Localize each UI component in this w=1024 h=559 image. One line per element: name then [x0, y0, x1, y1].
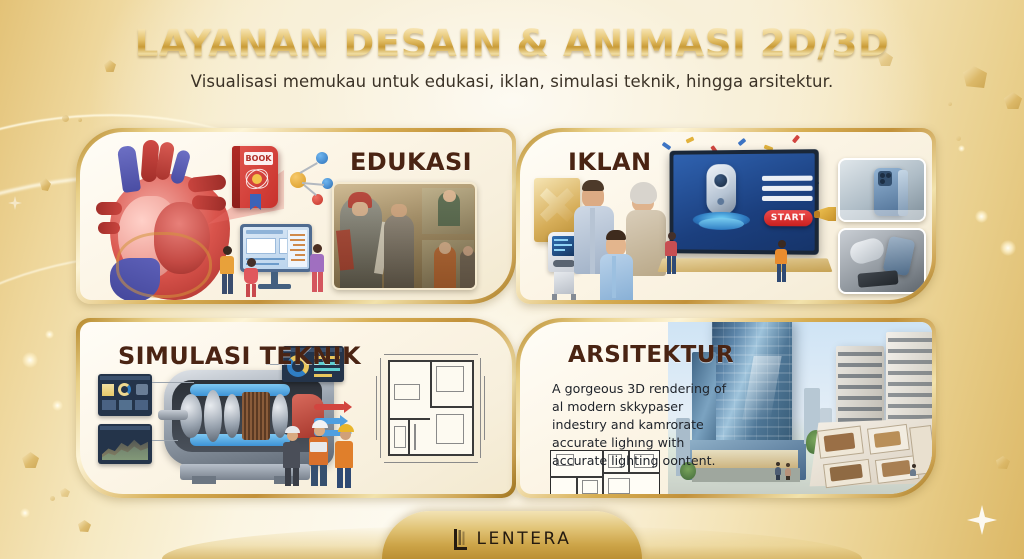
glow-particle [22, 352, 38, 368]
book-illustration: BOOK [232, 146, 278, 208]
monitor-base [258, 284, 291, 289]
screen-stage [657, 258, 832, 272]
product-thumbnail-phone-hand [838, 228, 926, 294]
person-figure [218, 246, 236, 294]
card-arsitektur[interactable]: ARSITEKTUR A gorgeous 3D rendering of al… [516, 318, 936, 498]
gold-shard [996, 456, 1010, 469]
molecule-illustration [278, 150, 336, 208]
connector-line [152, 440, 178, 441]
engineer-figure [282, 426, 302, 486]
gold-shard [22, 452, 39, 468]
person-figure [664, 232, 678, 274]
gold-dot [956, 136, 961, 141]
book-label: BOOK [244, 152, 273, 165]
confetti [792, 135, 800, 144]
glow-particle [975, 210, 988, 223]
glow-particle [958, 145, 965, 152]
glow-particle [20, 508, 30, 518]
advertising-screen: START [670, 149, 819, 255]
analytics-dashboard-bottom [98, 424, 152, 464]
page-header: LAYANAN DESAIN & ANIMASI 2D/3D Visualisa… [0, 22, 1024, 91]
family-photo [578, 180, 674, 300]
gold-shard [1004, 92, 1022, 109]
floorplan-blueprint [374, 346, 486, 470]
card-simulasi-title: SIMULASI TEKNIK [118, 342, 361, 370]
engineer-figure [308, 420, 330, 486]
gold-shard [40, 178, 51, 191]
gold-dot [78, 118, 82, 122]
start-button[interactable]: START [764, 210, 813, 226]
sparkle-icon [8, 196, 22, 210]
lentera-l-mark-icon [452, 528, 469, 551]
footer-brand-band: LENTERA [382, 511, 642, 559]
gold-dot [948, 102, 952, 106]
megaphone-icon [814, 204, 840, 226]
gold-shard [60, 488, 70, 497]
gold-dot [62, 115, 69, 122]
card-simulasi-teknik[interactable]: SIMULASI TEKNIK [76, 318, 516, 498]
person-figure [242, 258, 260, 296]
history-painting-thumbnail [332, 182, 477, 290]
product-thumbnail-phone-back [838, 158, 926, 222]
pedestrian [910, 464, 917, 480]
page-title: LAYANAN DESAIN & ANIMASI 2D/3D [135, 22, 890, 65]
glow-particle [1000, 240, 1016, 256]
page-subtitle: Visualisasi memukau untuk edukasi, iklan… [0, 72, 1024, 91]
person-figure [308, 244, 326, 292]
card-arsitektur-title: ARSITEKTUR [568, 342, 734, 368]
card-arsitektur-body: A gorgeous 3D rendering of al modern skk… [552, 380, 738, 469]
pedestrian [774, 462, 782, 480]
analytics-dashboard-top [98, 374, 152, 416]
confetti [738, 138, 747, 146]
card-iklan[interactable]: IKLAN [516, 128, 936, 304]
person-figure [774, 240, 788, 282]
card-edukasi-title: EDUKASI [350, 148, 472, 176]
sparkle-icon [967, 505, 997, 535]
engineer-figure [334, 424, 355, 488]
card-iklan-title: IKLAN [568, 148, 651, 176]
brand-name: LENTERA [476, 529, 571, 549]
gold-dot [50, 496, 55, 501]
gold-shard [78, 520, 91, 532]
connector-line [152, 382, 194, 383]
glow-particle [45, 330, 54, 339]
pedestrian [784, 463, 792, 480]
confetti [686, 136, 695, 143]
glow-particle [52, 400, 63, 411]
card-edukasi[interactable]: EDUKASI BOOK [76, 128, 516, 304]
confetti [662, 142, 672, 150]
